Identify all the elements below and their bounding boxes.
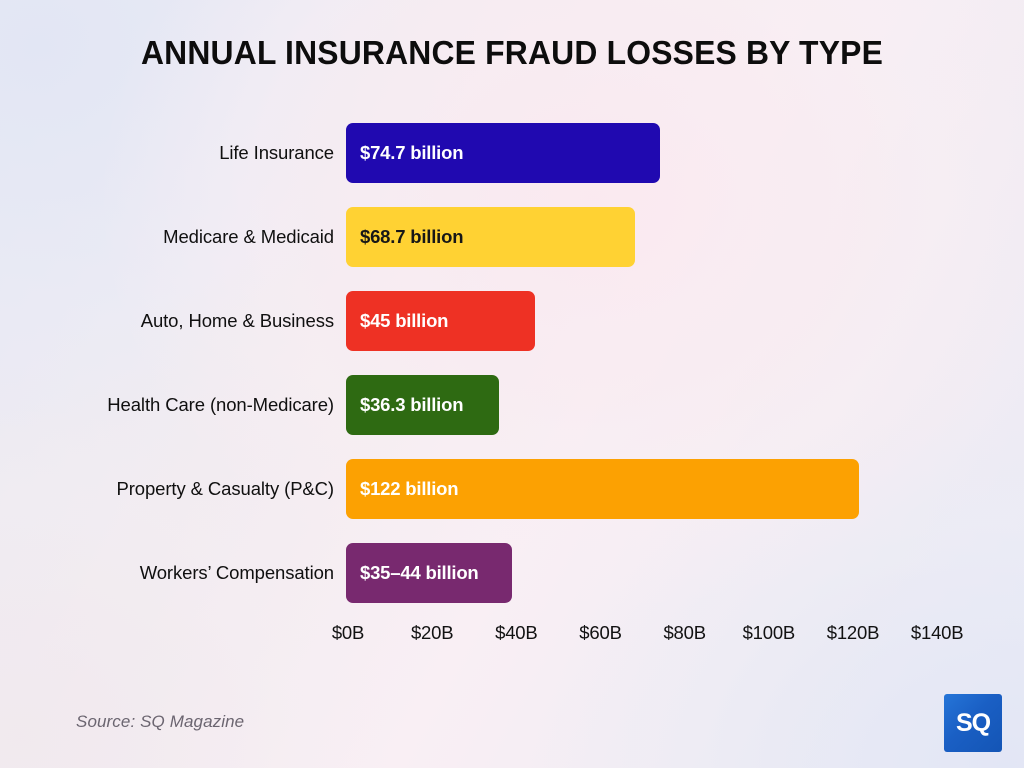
category-label: Medicare & Medicaid (0, 202, 334, 272)
chart-bar[interactable]: $74.7 billion (346, 123, 660, 183)
category-label: Auto, Home & Business (0, 286, 334, 356)
axis-tick-label: $100B (743, 622, 796, 644)
chart-bar[interactable]: $35–44 billion (346, 543, 512, 603)
chart-bar[interactable]: $122 billion (346, 459, 859, 519)
axis-tick-label: $60B (579, 622, 621, 644)
chart-row: Health Care (non-Medicare)$36.3 billion (0, 370, 1024, 440)
axis-tick-label: $40B (495, 622, 537, 644)
sq-magazine-logo: SQ (944, 694, 1002, 752)
axis-tick-label: $80B (663, 622, 705, 644)
chart-plot-area: Life Insurance$74.7 billionMedicare & Me… (0, 118, 1024, 618)
axis-tick-label: $0B (332, 622, 364, 644)
chart-row: Medicare & Medicaid$68.7 billion (0, 202, 1024, 272)
category-label: Property & Casualty (P&C) (0, 454, 334, 524)
chart-row: Property & Casualty (P&C)$122 billion (0, 454, 1024, 524)
x-axis: $0B$20B$40B$60B$80B$100B$120B$140B (0, 622, 1024, 656)
category-label: Life Insurance (0, 118, 334, 188)
axis-tick-label: $120B (827, 622, 880, 644)
chart-row: Workers’ Compensation$35–44 billion (0, 538, 1024, 608)
bar-value-label: $36.3 billion (360, 394, 463, 416)
category-label: Workers’ Compensation (0, 538, 334, 608)
chart-row: Auto, Home & Business$45 billion (0, 286, 1024, 356)
infographic-canvas: ANNUAL INSURANCE FRAUD LOSSES BY TYPE Li… (0, 0, 1024, 768)
bar-value-label: $68.7 billion (360, 226, 463, 248)
bar-value-label: $122 billion (360, 478, 458, 500)
page-title: ANNUAL INSURANCE FRAUD LOSSES BY TYPE (18, 31, 1006, 75)
chart-bar[interactable]: $45 billion (346, 291, 535, 351)
chart-bar[interactable]: $36.3 billion (346, 375, 499, 435)
category-label: Health Care (non-Medicare) (0, 370, 334, 440)
axis-tick-label: $140B (911, 622, 964, 644)
chart-row: Life Insurance$74.7 billion (0, 118, 1024, 188)
bar-value-label: $35–44 billion (360, 562, 479, 584)
chart-bar[interactable]: $68.7 billion (346, 207, 635, 267)
axis-tick-label: $20B (411, 622, 453, 644)
bar-value-label: $45 billion (360, 310, 448, 332)
source-note: Source: SQ Magazine (76, 712, 244, 732)
logo-text: SQ (956, 709, 990, 738)
bar-value-label: $74.7 billion (360, 142, 463, 164)
